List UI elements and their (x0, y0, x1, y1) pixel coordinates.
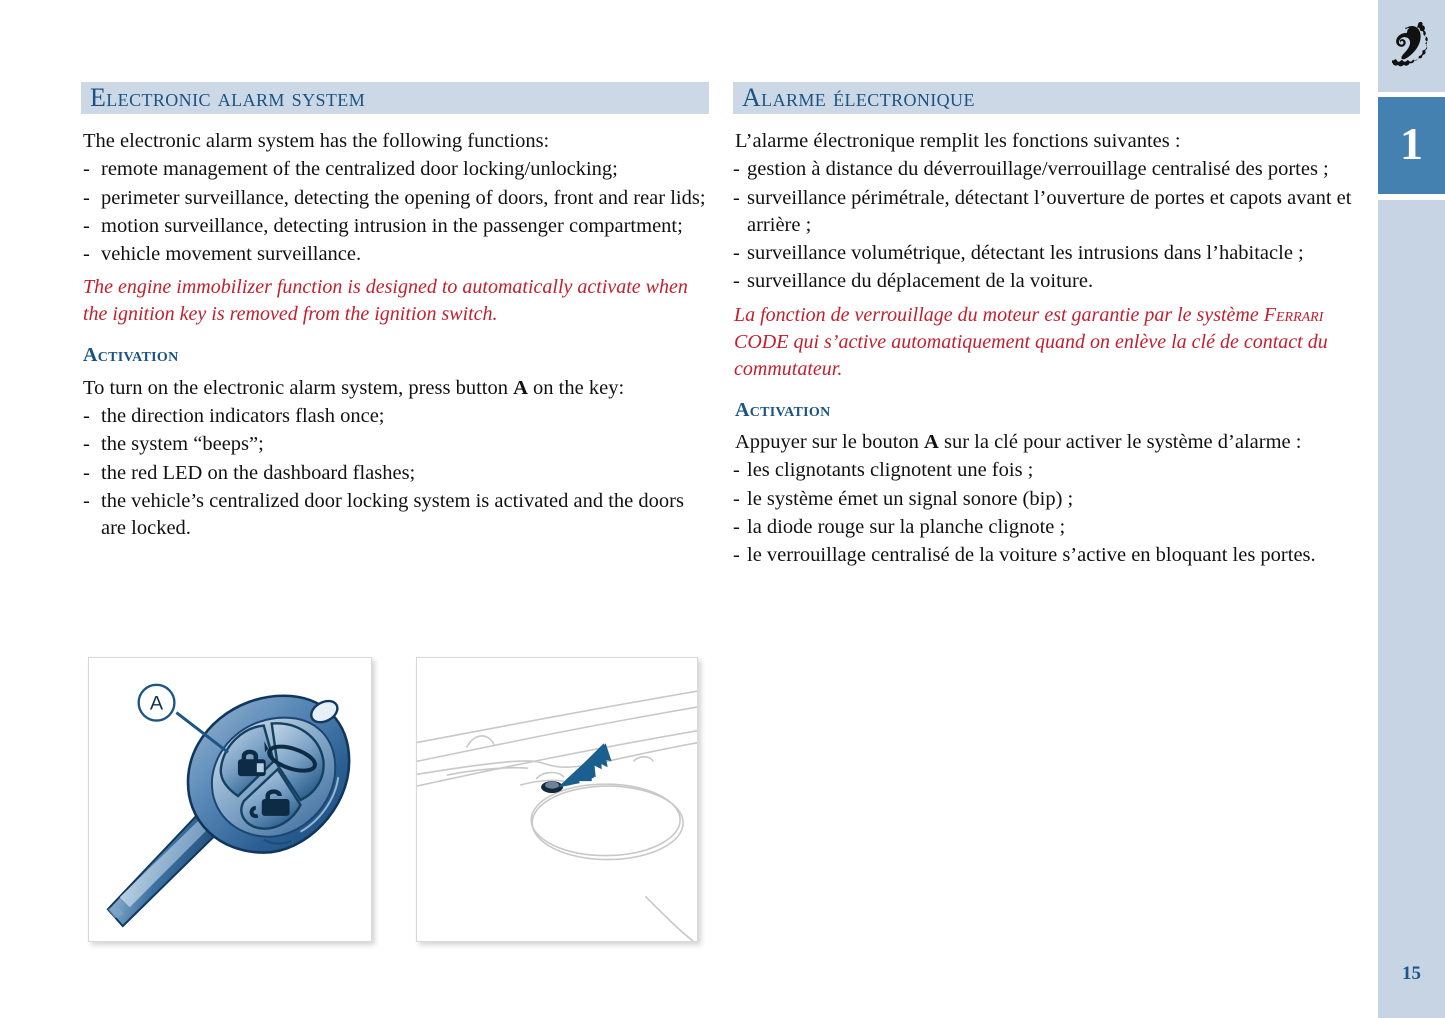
bullet-dash: - (733, 185, 740, 212)
bullet-dash: - (83, 156, 90, 183)
bullet-dash: - (733, 486, 740, 513)
bullet-dash: - (83, 431, 90, 458)
french-lead: L’alarme électronique remplit les foncti… (735, 128, 1360, 155)
red-led (541, 781, 563, 793)
section-title-english: Electronic alarm system (90, 85, 365, 111)
list-item-text: vehicle movement surveillance. (101, 243, 361, 265)
section-header-french: Alarme électronique (733, 82, 1360, 114)
list-item-text: motion surveillance, detecting intrusion… (101, 215, 683, 237)
english-activation-lead: To turn on the electronic alarm system, … (83, 375, 709, 402)
list-item-text: le système émet un signal sonore (bip) ; (747, 488, 1073, 510)
bullet-dash: - (733, 268, 740, 295)
list-item-text: the red LED on the dashboard flashes; (101, 462, 415, 484)
chapter-tab-number: 1 (1400, 121, 1423, 171)
callout-a-label: A (150, 693, 164, 715)
list-item-text: the direction indicators flash once; (101, 405, 385, 427)
list-item: - le verrouillage centralisé de la voitu… (733, 542, 1360, 569)
french-body: L’alarme électronique remplit les foncti… (733, 114, 1360, 569)
button-label-a: A (513, 377, 528, 399)
list-item-text: les clignotants clignotent une fois ; (747, 459, 1033, 481)
bullet-dash: - (83, 241, 90, 268)
list-item: - remote management of the centralized d… (81, 156, 709, 183)
callout-a: A (139, 685, 228, 753)
bullet-dash: - (83, 460, 90, 487)
bullet-dash: - (733, 240, 740, 267)
pointer-arrow-icon (558, 743, 612, 787)
activation-lead-after: on the key: (528, 377, 624, 399)
list-item-text: the vehicle’s centralized door locking s… (101, 490, 684, 539)
list-item: - perimeter surveillance, detecting the … (81, 185, 709, 212)
chapter-tab-1[interactable]: 1 (1378, 97, 1445, 194)
english-function-list: - remote management of the centralized d… (81, 156, 709, 268)
activation-lead-before: Appuyer sur le bouton (735, 431, 924, 453)
list-item-text: gestion à distance du déverrouillage/ver… (747, 158, 1329, 180)
list-item: - surveillance volumétrique, détectant l… (733, 240, 1360, 267)
list-item-text: surveillance périmétrale, détectant l’ou… (747, 187, 1351, 236)
list-item: - the direction indicators flash once; (81, 403, 709, 430)
bullet-dash: - (733, 156, 740, 183)
list-item: - surveillance périmétrale, détectant l’… (733, 185, 1360, 240)
french-activation-list: - les clignotants clignotent une fois ; … (733, 457, 1360, 569)
list-item: - le système émet un signal sonore (bip)… (733, 486, 1360, 513)
warning-part1: La fonction de verrouillage du moteur es… (734, 304, 1264, 326)
list-item: - gestion à distance du déverrouillage/v… (733, 156, 1360, 183)
right-sidebar: 1 15 (1378, 0, 1445, 1018)
button-label-a: A (924, 431, 939, 453)
section-header-english: Electronic alarm system (81, 82, 709, 114)
list-item: - la diode rouge sur la planche clignote… (733, 514, 1360, 541)
list-item: - les clignotants clignotent une fois ; (733, 457, 1360, 484)
bullet-dash: - (83, 185, 90, 212)
list-item-text: perimeter surveillance, detecting the op… (101, 187, 706, 209)
french-column: Alarme électronique L’alarme électroniqu… (733, 82, 1360, 570)
list-item: - vehicle movement surveillance. (81, 241, 709, 268)
english-body: The electronic alarm system has the foll… (81, 114, 709, 542)
list-item: - motion surveillance, detecting intrusi… (81, 213, 709, 240)
dashboard-led-illustration (416, 657, 698, 942)
english-lead: The electronic alarm system has the foll… (83, 128, 709, 155)
bullet-dash: - (83, 488, 90, 515)
french-subheading-activation: Activation (735, 397, 1360, 424)
section-title-french: Alarme électronique (742, 85, 975, 111)
english-activation-list: - the direction indicators flash once; -… (81, 403, 709, 542)
ferrari-key-fob-illustration: A (88, 657, 372, 942)
warning-smallcaps-ferrari: Ferrari (1264, 304, 1324, 326)
english-warning-note: The engine immobilizer function is desig… (83, 274, 709, 328)
english-subheading-activation: Activation (83, 342, 709, 369)
ferrari-prancing-horse-icon (1378, 14, 1445, 76)
bullet-dash: - (733, 457, 740, 484)
page-number: 15 (1378, 963, 1445, 985)
warning-part2: CODE qui s’active automatiquement quand … (734, 331, 1328, 380)
list-item: - the system “beeps”; (81, 431, 709, 458)
list-item-text: la diode rouge sur la planche clignote ; (747, 516, 1065, 538)
bullet-dash: - (83, 213, 90, 240)
list-item: - surveillance du déplacement de la voit… (733, 268, 1360, 295)
french-activation-lead: Appuyer sur le bouton A sur la clé pour … (735, 429, 1360, 456)
list-item: - the vehicle’s centralized door locking… (81, 488, 709, 543)
bullet-dash: - (83, 403, 90, 430)
list-item-text: surveillance volumétrique, détectant les… (747, 242, 1304, 264)
bullet-dash: - (733, 514, 740, 541)
list-item: - the red LED on the dashboard flashes; (81, 460, 709, 487)
list-item-text: remote management of the centralized doo… (101, 158, 618, 180)
english-column: Electronic alarm system The electronic a… (81, 82, 709, 543)
french-function-list: - gestion à distance du déverrouillage/v… (733, 156, 1360, 295)
dashboard-outline (417, 690, 697, 941)
list-item-text: surveillance du déplacement de la voitur… (747, 270, 1093, 292)
sidebar-tab-divider-bottom (1378, 194, 1445, 200)
activation-lead-after: sur la clé pour activer le système d’ala… (939, 431, 1302, 453)
list-item-text: the system “beeps”; (101, 433, 264, 455)
bullet-dash: - (733, 542, 740, 569)
activation-lead-before: To turn on the electronic alarm system, … (83, 377, 513, 399)
french-warning-note: La fonction de verrouillage du moteur es… (734, 302, 1360, 383)
list-item-text: le verrouillage centralisé de la voiture… (747, 544, 1316, 566)
